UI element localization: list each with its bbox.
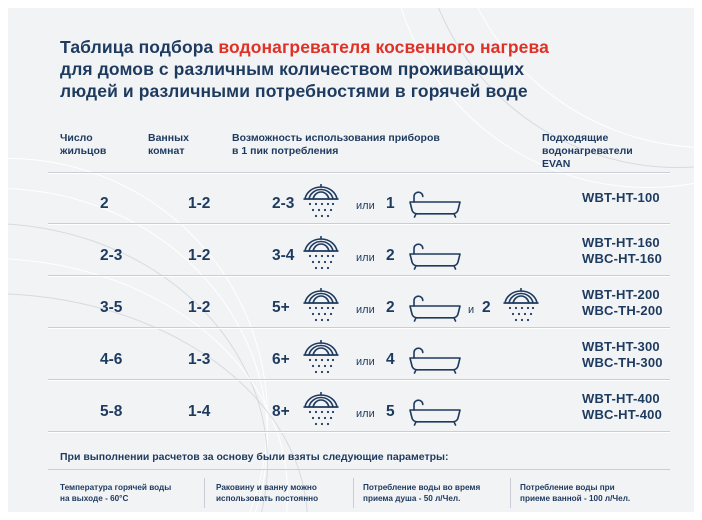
cell-residents: 5-8 bbox=[100, 403, 122, 421]
or-label: или bbox=[356, 304, 375, 316]
title-line3: людей и различными потребностями в горяч… bbox=[60, 81, 528, 101]
header-line: Возможность использования приборов bbox=[232, 132, 532, 145]
model-name: WBC-TH-200 bbox=[582, 303, 663, 319]
model-name: WBT-HT-160 bbox=[582, 235, 662, 251]
or-label: или bbox=[356, 408, 375, 420]
title-line1-accent: водонагревателя косвенного нагрева bbox=[218, 37, 549, 57]
footer-divider bbox=[48, 469, 670, 470]
shower-icon bbox=[300, 288, 342, 329]
footer-param-shower-usage: Потребление воды во время приема душа - … bbox=[363, 482, 513, 504]
footer-separator bbox=[353, 478, 354, 508]
cell-models: WBT-HT-100 bbox=[582, 190, 660, 206]
header-line: жильцов bbox=[60, 145, 140, 158]
infographic-card: Таблица подбора водонагревателя косвенно… bbox=[8, 8, 694, 512]
model-name: WBT-HT-100 bbox=[582, 190, 660, 206]
model-name: WBC-HT-400 bbox=[582, 407, 662, 423]
cell-bath-count: 2 bbox=[386, 299, 395, 317]
cell-bathrooms: 1-2 bbox=[188, 195, 210, 213]
cell-bath-count: 4 bbox=[386, 351, 395, 369]
header-line: EVAN bbox=[542, 158, 682, 171]
cell-residents: 2 bbox=[100, 195, 109, 213]
row-divider-highlight bbox=[48, 432, 670, 433]
header-line: в 1 пик потребления bbox=[232, 145, 532, 158]
and-label: и bbox=[468, 304, 474, 316]
header-line: комнат bbox=[148, 145, 228, 158]
footer-separator bbox=[204, 478, 205, 508]
cell-bath-count: 1 bbox=[386, 195, 395, 213]
header-line: Подходящие bbox=[542, 132, 682, 145]
shower-icon bbox=[300, 236, 342, 277]
cell-bathrooms: 1-3 bbox=[188, 351, 210, 369]
cell-bath-count: 2 bbox=[386, 247, 395, 265]
infographic-page: Таблица подбора водонагревателя косвенно… bbox=[0, 0, 702, 520]
cell-bathrooms: 1-2 bbox=[188, 299, 210, 317]
cell-models: WBT-HT-160 WBC-HT-160 bbox=[582, 235, 662, 267]
footer-line: использовать постоянно bbox=[216, 493, 356, 504]
cell-bathrooms: 1-4 bbox=[188, 403, 210, 421]
footer-line: Потребление воды во время bbox=[363, 482, 513, 493]
cell-models: WBT-HT-400 WBC-HT-400 bbox=[582, 391, 662, 423]
cell-residents: 3-5 bbox=[100, 299, 122, 317]
shower-icon bbox=[300, 392, 342, 433]
footer-line: приеме ванной - 100 л/Чел. bbox=[520, 493, 680, 504]
cell-residents: 4-6 bbox=[100, 351, 122, 369]
bathtub-icon bbox=[408, 398, 462, 431]
footer-line: Температура горячей воды bbox=[60, 482, 200, 493]
column-header-models: Подходящие водонагреватели EVAN bbox=[542, 132, 682, 171]
footer-param-temperature: Температура горячей воды на выходе - 60°… bbox=[60, 482, 200, 504]
model-name: WBT-HT-200 bbox=[582, 287, 663, 303]
column-header-bathrooms: Ванных комнат bbox=[148, 132, 228, 158]
bathtub-icon bbox=[408, 346, 462, 379]
title-line1-pre: Таблица подбора bbox=[60, 37, 218, 57]
cell-shower-count: 2-3 bbox=[272, 195, 294, 213]
or-label: или bbox=[356, 356, 375, 368]
footer-line: на выходе - 60°С bbox=[60, 493, 200, 504]
footer-line: Потребление воды при bbox=[520, 482, 680, 493]
table-row: 3-5 1-2 5+ bbox=[48, 276, 668, 328]
cell-bathrooms: 1-2 bbox=[188, 247, 210, 265]
cell-shower-count: 5+ bbox=[272, 299, 290, 317]
cell-shower-count: 6+ bbox=[272, 351, 290, 369]
model-name: WBC-TH-300 bbox=[582, 355, 663, 371]
header-line: водонагреватели bbox=[542, 145, 682, 158]
bathtub-icon bbox=[408, 242, 462, 275]
cell-models: WBT-HT-200 WBC-TH-200 bbox=[582, 287, 663, 319]
table-row: 4-6 1-3 6+ bbox=[48, 328, 668, 380]
cell-shower-count: 8+ bbox=[272, 403, 290, 421]
table-row: 2-3 1-2 3-4 bbox=[48, 224, 668, 276]
cell-bath-count: 5 bbox=[386, 403, 395, 421]
table-row: 2 1-2 2-3 bbox=[48, 172, 668, 224]
footer-param-bath-usage: Потребление воды при приеме ванной - 100… bbox=[520, 482, 680, 504]
table-row: 5-8 1-4 8+ bbox=[48, 380, 668, 432]
footer-separator bbox=[510, 478, 511, 508]
shower-icon bbox=[300, 184, 342, 225]
title-line2: для домов с различным количеством прожив… bbox=[60, 59, 524, 79]
cell-residents: 2-3 bbox=[100, 247, 122, 265]
column-header-usage: Возможность использования приборов в 1 п… bbox=[232, 132, 532, 158]
footer-line: приема душа - 50 л/Чел. bbox=[363, 493, 513, 504]
column-header-residents: Число жильцов bbox=[60, 132, 140, 158]
cell-extra-shower-count: 2 bbox=[482, 299, 491, 317]
footer-note: При выполнении расчетов за основу были в… bbox=[60, 451, 448, 463]
bathtub-icon bbox=[408, 294, 462, 327]
model-name: WBT-HT-400 bbox=[582, 391, 662, 407]
model-name: WBT-HT-300 bbox=[582, 339, 663, 355]
shower-icon bbox=[300, 340, 342, 381]
header-line: Число bbox=[60, 132, 140, 145]
header-line: Ванных bbox=[148, 132, 228, 145]
bathtub-icon bbox=[408, 190, 462, 223]
cell-models: WBT-HT-300 WBC-TH-300 bbox=[582, 339, 663, 371]
shower-icon bbox=[500, 288, 542, 329]
or-label: или bbox=[356, 200, 375, 212]
page-title: Таблица подбора водонагревателя косвенно… bbox=[60, 36, 670, 102]
footer-line: Раковину и ванну можно bbox=[216, 482, 356, 493]
footer-param-sink-bath: Раковину и ванну можно использовать пост… bbox=[216, 482, 356, 504]
model-name: WBC-HT-160 bbox=[582, 251, 662, 267]
cell-shower-count: 3-4 bbox=[272, 247, 294, 265]
or-label: или bbox=[356, 252, 375, 264]
